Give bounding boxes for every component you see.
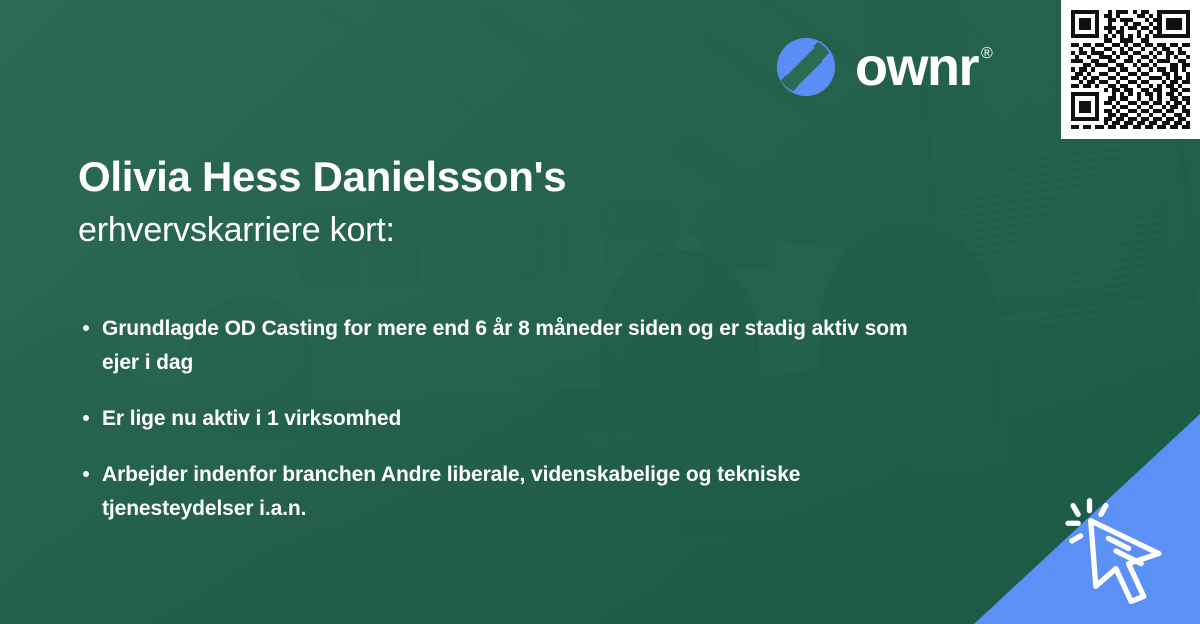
ownr-wordmark: ownr ® bbox=[855, 40, 993, 94]
list-item: Arbejder indenfor branchen Andre liberal… bbox=[80, 458, 940, 526]
headline-line-2: erhvervskarriere kort: bbox=[78, 208, 898, 252]
ownr-swirl-logo-icon bbox=[775, 36, 837, 98]
corner-badge bbox=[974, 414, 1200, 624]
career-card: ownr ® Olivia Hess Danielsson's erhvervs… bbox=[0, 0, 1200, 624]
career-facts-list: Grundlagde OD Casting for mere end 6 år … bbox=[80, 312, 940, 526]
qr-code-modules bbox=[1071, 10, 1191, 130]
qr-code[interactable] bbox=[1061, 0, 1200, 139]
list-item: Grundlagde OD Casting for mere end 6 år … bbox=[80, 312, 940, 380]
list-item-label: Arbejder indenfor branchen Andre liberal… bbox=[102, 463, 800, 520]
list-item-label: Grundlagde OD Casting for mere end 6 år … bbox=[102, 317, 908, 374]
bullet-dot-icon bbox=[83, 325, 89, 331]
page-title: Olivia Hess Danielsson's erhvervskarrier… bbox=[78, 152, 898, 252]
headline-line-1: Olivia Hess Danielsson's bbox=[78, 152, 898, 202]
registered-trademark-symbol: ® bbox=[981, 46, 993, 62]
list-item: Er lige nu aktiv i 1 virksomhed bbox=[80, 402, 940, 436]
ownr-logo[interactable]: ownr ® bbox=[775, 36, 993, 98]
bullet-dot-icon bbox=[83, 415, 89, 421]
ownr-wordmark-text: ownr bbox=[855, 40, 978, 94]
list-item-label: Er lige nu aktiv i 1 virksomhed bbox=[102, 407, 401, 430]
click-cursor-icon bbox=[1058, 488, 1184, 614]
bullet-dot-icon bbox=[83, 471, 89, 477]
